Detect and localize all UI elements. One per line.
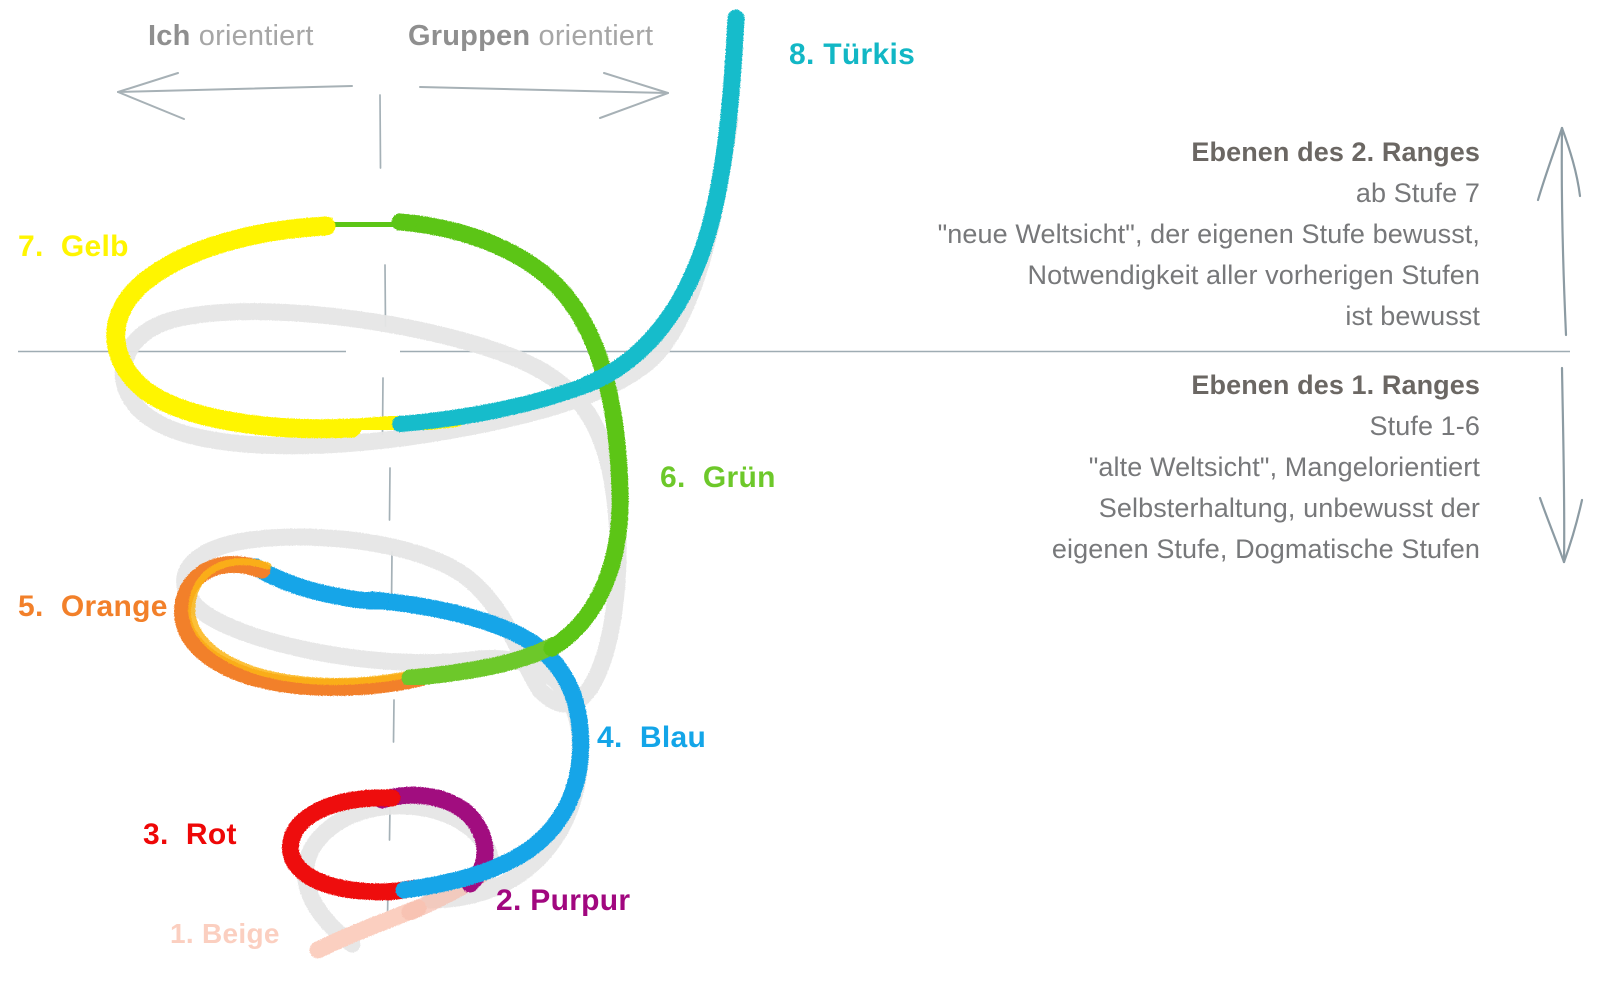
level-label-orange: 5. Orange — [18, 590, 168, 624]
direction-arrow-left — [118, 73, 352, 119]
axis-caption-left: Ich orientiert — [148, 20, 314, 53]
level-label-tuerkis: 8. Türkis — [789, 38, 915, 72]
second-range-line-2: "neue Weltsicht", der eigenen Stufe bewu… — [820, 214, 1480, 255]
first-range-title: Ebenen des 1. Ranges — [820, 365, 1480, 406]
first-range-block: Ebenen des 1. Ranges Stufe 1-6 "alte Wel… — [820, 365, 1480, 570]
spiral-segment-blau-upper — [254, 566, 380, 602]
second-range-line-4: ist bewusst — [820, 296, 1480, 337]
arrow-down-first-range — [1540, 368, 1582, 562]
arrow-up-second-range — [1538, 128, 1580, 335]
axis-caption-right: Gruppen orientiert — [408, 20, 653, 53]
second-range-line-3: Notwendigkeit aller vorherigen Stufen — [820, 255, 1480, 296]
level-label-gruen: 6. Grün — [660, 461, 776, 495]
axis-caption-right-rest: orientiert — [530, 20, 653, 52]
first-range-line-2: "alte Weltsicht", Mangelorientiert — [820, 447, 1480, 488]
axis-caption-right-bold: Gruppen — [408, 20, 530, 52]
spiral-dynamics-diagram: Ich orientiert Gruppen orientiert 8. Tür… — [0, 0, 1598, 985]
first-range-line-3: Selbsterhaltung, unbewusst der — [820, 488, 1480, 529]
first-range-line-1: Stufe 1-6 — [820, 406, 1480, 447]
second-range-title: Ebenen des 2. Ranges — [820, 132, 1480, 173]
level-label-purpur: 2. Purpur — [496, 884, 630, 918]
level-label-gelb: 7. Gelb — [18, 230, 129, 264]
level-label-blau: 4. Blau — [597, 721, 706, 755]
axis-caption-left-rest: orientiert — [191, 20, 314, 52]
second-range-block: Ebenen des 2. Ranges ab Stufe 7 "neue We… — [820, 132, 1480, 337]
spiral-segment-tuerkis-rise — [588, 18, 736, 384]
axis-caption-left-bold: Ich — [148, 20, 191, 52]
first-range-line-4: eigenen Stufe, Dogmatische Stufen — [820, 529, 1480, 570]
level-label-rot: 3. Rot — [143, 818, 237, 852]
direction-arrow-right — [420, 73, 668, 118]
level-label-beige: 1. Beige — [170, 918, 280, 950]
second-range-line-1: ab Stufe 7 — [820, 173, 1480, 214]
